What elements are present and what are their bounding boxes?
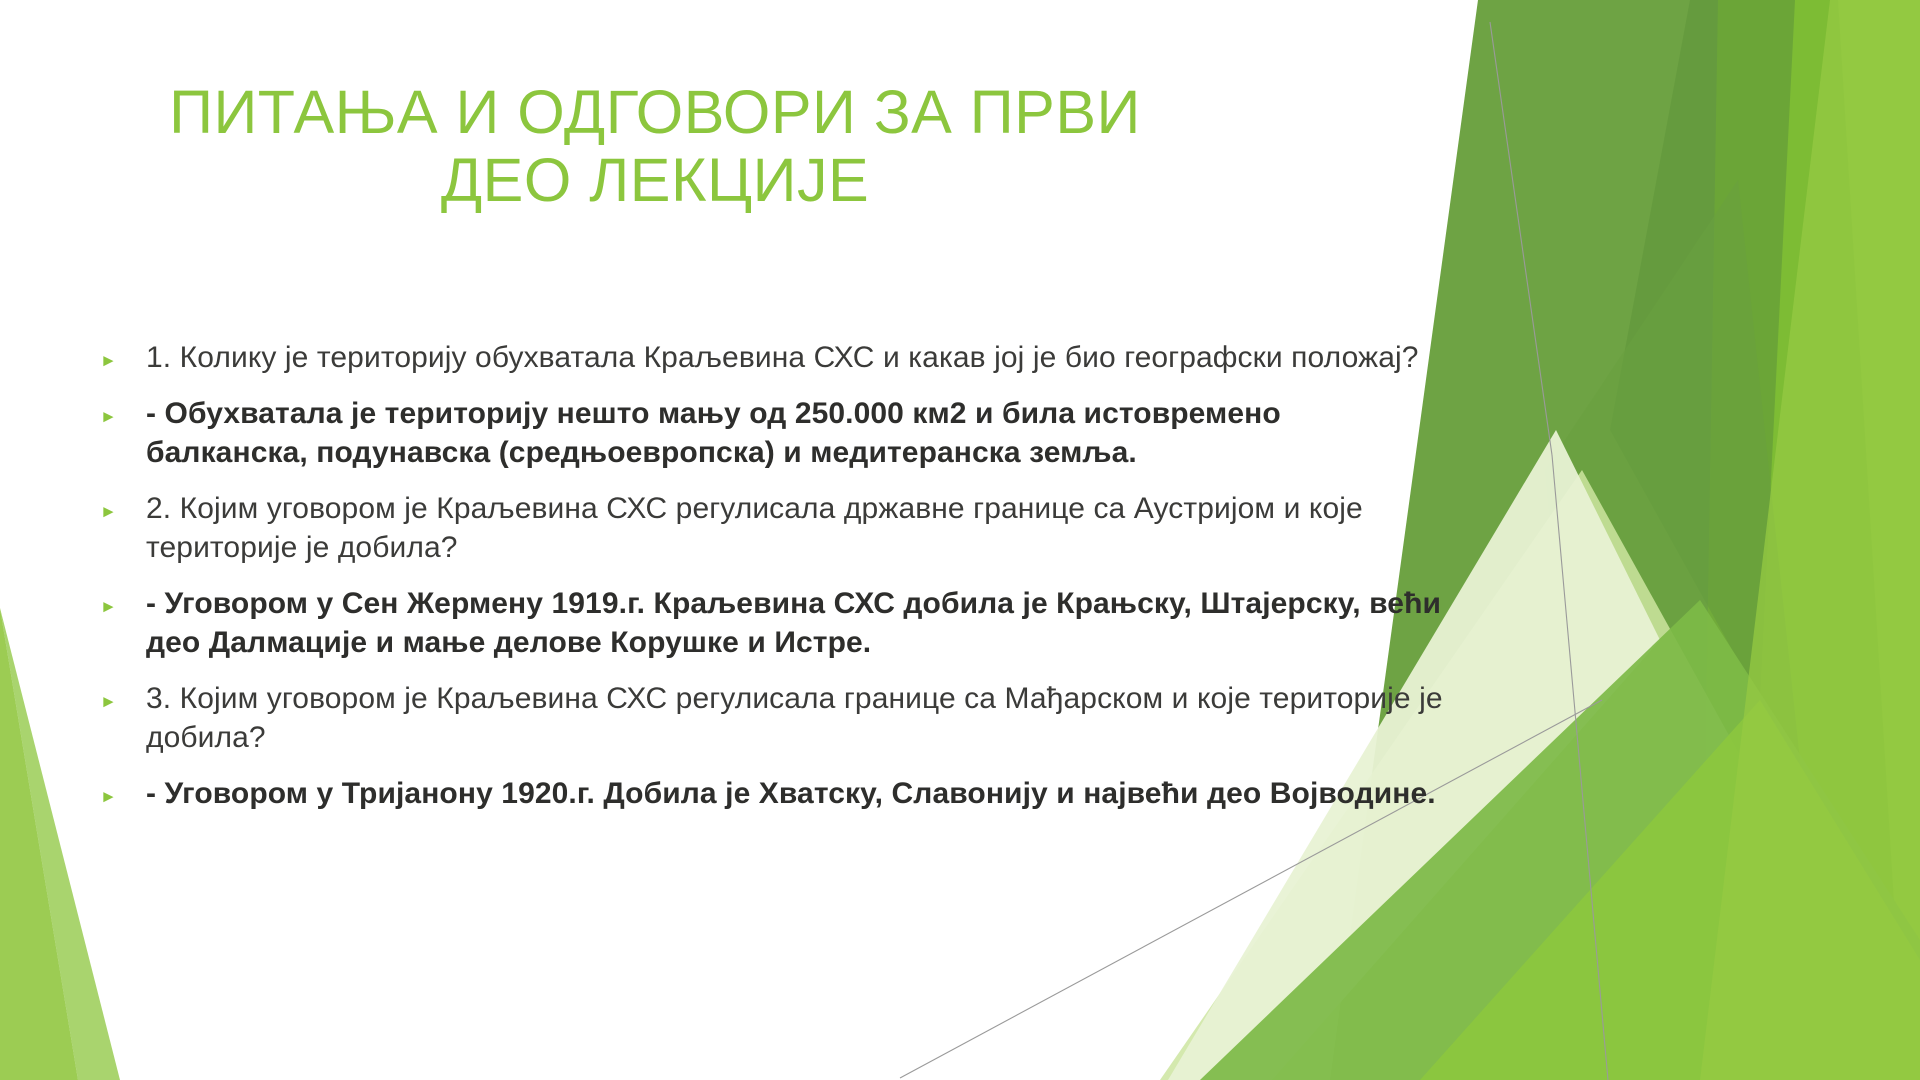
list-item-text: 3. Којим уговором је Краљевина СХС регул…: [146, 679, 1450, 757]
list-item-text: - Уговором у Сен Жермену 1919.г. Краљеви…: [146, 584, 1450, 662]
bright-green-wedge: [1700, 0, 1905, 1080]
bullet-arrow-icon: ►: [100, 338, 146, 369]
list-item-text: - Обухватала је територију нешто мању од…: [146, 394, 1450, 472]
list-item: ►2. Којим уговором је Краљевина СХС регу…: [100, 489, 1450, 567]
bullet-list: ►1. Колику је територију обухватала Краљ…: [100, 338, 1450, 830]
list-item: ►1. Колику је територију обухватала Краљ…: [100, 338, 1450, 377]
title-block: ПИТАЊА И ОДГОВОРИ ЗА ПРВИ ДЕО ЛЕКЦИЈЕ: [150, 78, 1160, 215]
list-item: ►- Обухватала је територију нешто мању о…: [100, 394, 1450, 472]
left-wedge-shape: [0, 608, 78, 1080]
list-item: ►- Уговором у Тријанону 1920.г. Добила ј…: [100, 774, 1450, 813]
bullet-arrow-icon: ►: [100, 489, 146, 520]
list-item: ►3. Којим уговором је Краљевина СХС регу…: [100, 679, 1450, 757]
hairline-top: [1490, 22, 1552, 455]
bullet-arrow-icon: ►: [100, 394, 146, 425]
list-item-text: 2. Којим уговором је Краљевина СХС регул…: [146, 489, 1450, 567]
hairline-mid: [1552, 455, 1608, 1080]
list-item-text: 1. Колику је територију обухватала Краље…: [146, 338, 1450, 377]
light-green-band: [1420, 700, 1920, 1080]
dark-overlap-triangle: [1610, 0, 1795, 700]
list-item-text: - Уговором у Тријанону 1920.г. Добила је…: [146, 774, 1450, 813]
bullet-arrow-icon: ►: [100, 584, 146, 615]
right-bright-block: [1670, 0, 1920, 1080]
presentation-slide: ПИТАЊА И ОДГОВОРИ ЗА ПРВИ ДЕО ЛЕКЦИЈЕ ►1…: [0, 0, 1920, 1080]
bullet-arrow-icon: ►: [100, 679, 146, 710]
page-title: ПИТАЊА И ОДГОВОРИ ЗА ПРВИ ДЕО ЛЕКЦИЈЕ: [150, 78, 1160, 215]
bullet-arrow-icon: ►: [100, 774, 146, 805]
right-accent-shape: [1700, 0, 1920, 1080]
list-item: ►- Уговором у Сен Жермену 1919.г. Краљев…: [100, 584, 1450, 662]
inverted-v-shape: [1545, 180, 1800, 1080]
